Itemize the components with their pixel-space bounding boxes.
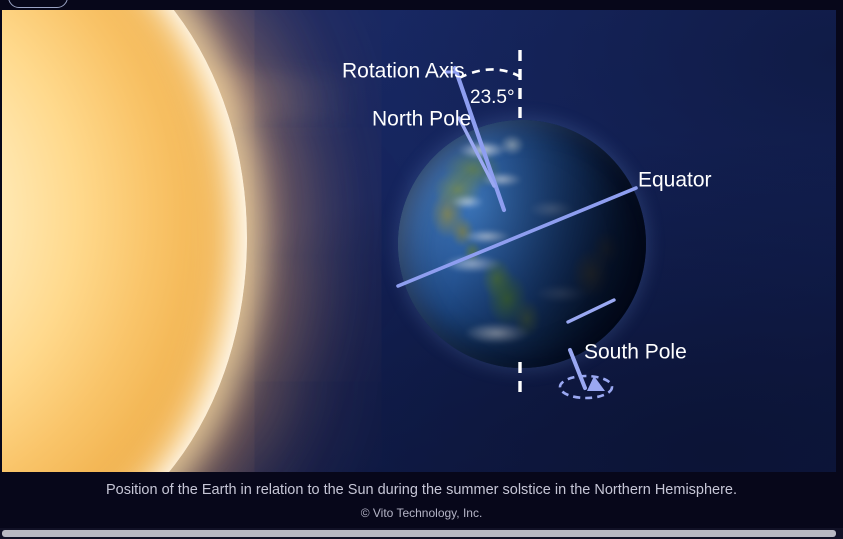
clipped-top-button[interactable] <box>8 0 68 8</box>
tilt-angle-arc <box>459 69 519 78</box>
label-rotation-axis: Rotation Axis <box>342 60 465 83</box>
caption-credit: © Vito Technology, Inc. <box>0 506 843 520</box>
solstice-illustration: Rotation Axis 23.5° North Pole Equator S… <box>2 10 836 472</box>
caption-area: Position of the Earth in relation to the… <box>0 472 843 527</box>
horizontal-scrollbar-track[interactable] <box>0 528 843 539</box>
horizontal-scrollbar-thumb[interactable] <box>2 530 836 537</box>
label-south-pole: South Pole <box>584 341 687 364</box>
label-tilt-angle: 23.5° <box>470 87 515 108</box>
label-equator: Equator <box>638 169 712 192</box>
south-pole-leader <box>568 300 614 322</box>
label-north-pole: North Pole <box>372 108 471 131</box>
equator-line <box>398 188 636 286</box>
south-pole-axis-stub <box>570 350 585 388</box>
caption-text: Position of the Earth in relation to the… <box>0 482 843 498</box>
rotation-direction-arrowhead <box>587 376 605 391</box>
page-root: Rotation Axis 23.5° North Pole Equator S… <box>0 0 843 539</box>
annotation-overlay: Rotation Axis 23.5° North Pole Equator S… <box>2 10 836 472</box>
